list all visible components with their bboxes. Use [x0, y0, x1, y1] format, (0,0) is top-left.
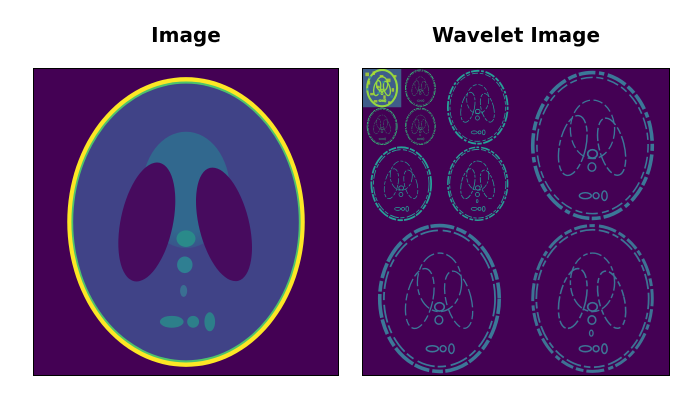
phantom-lower-ellipse-a: [160, 316, 184, 328]
wavelet-plot: [363, 69, 669, 375]
matplotlib-figure: Image: [0, 0, 700, 404]
phantom-midline-circle-upper: [177, 230, 196, 247]
wavelet-axes: [362, 68, 670, 376]
phantom-midline-circle-lower: [177, 256, 192, 273]
panel-wavelet-title: Wavelet Image: [362, 24, 670, 46]
image-axes: [33, 68, 339, 376]
phantom-midline-circle-tiny: [180, 285, 187, 297]
phantom-lower-ellipse-c: [204, 312, 215, 331]
panel-image-title: Image: [33, 24, 339, 46]
phantom-plot: [34, 69, 338, 375]
wavelet-subband-LL3: [363, 69, 401, 107]
phantom-lower-ellipse-b: [187, 316, 199, 328]
